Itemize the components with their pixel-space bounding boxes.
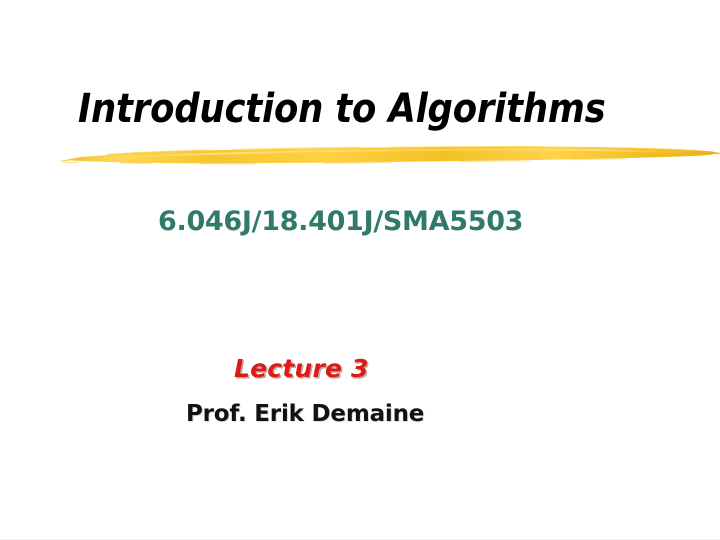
page-title: Introduction to Algorithms <box>78 82 606 136</box>
lecture-label: Lecture 3 <box>234 352 369 386</box>
presenter-name: Prof. Erik Demaine <box>186 398 424 430</box>
course-number: 6.046J/18.401J/SMA5503 <box>158 204 523 240</box>
title-slide: Introduction to Algorithms <box>0 0 720 540</box>
title-block: Introduction to Algorithms <box>0 82 720 177</box>
